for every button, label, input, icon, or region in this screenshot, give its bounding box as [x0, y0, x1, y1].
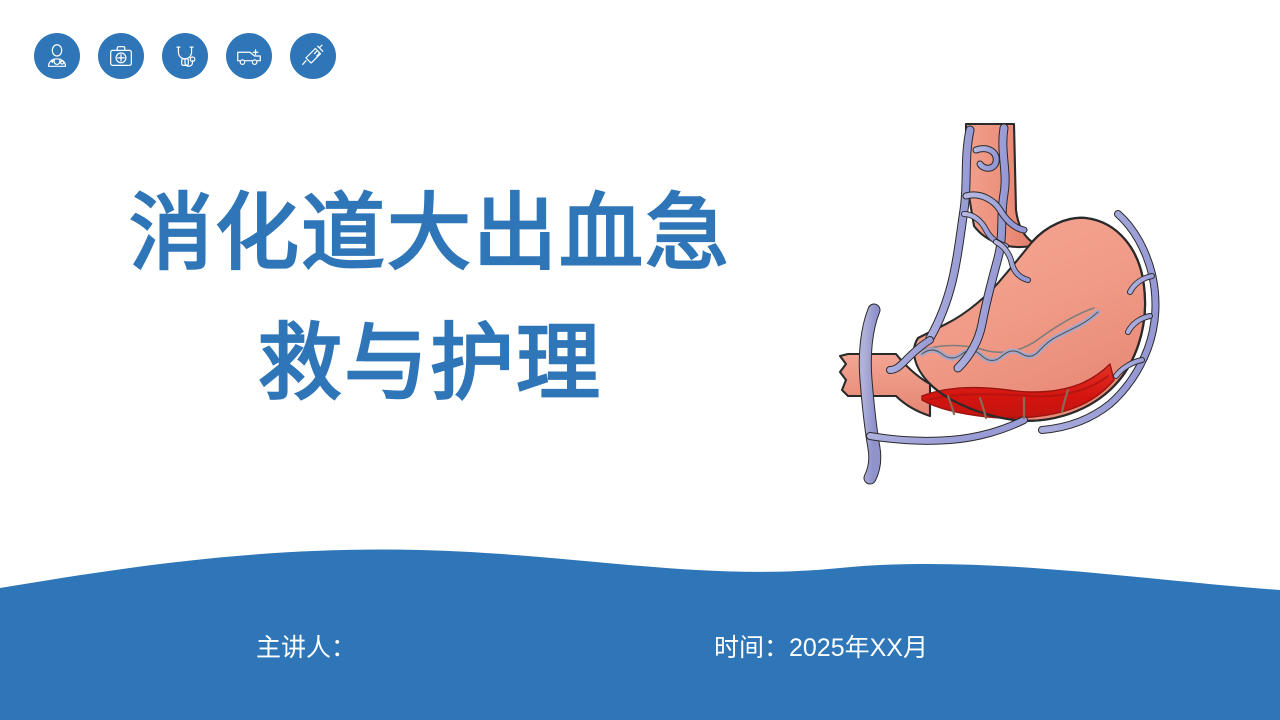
- slide-footer: 主讲人： 时间：2025年XX月: [0, 628, 1280, 668]
- medical-icon-row: [34, 33, 336, 79]
- doctor-icon: [34, 33, 80, 79]
- title-line-1: 消化道大出血急: [60, 168, 800, 298]
- date-label: 时间：2025年XX月: [714, 631, 928, 665]
- syringe-icon: [290, 33, 336, 79]
- presentation-slide: 消化道大出血急 救与护理: [0, 0, 1280, 720]
- stomach-anatomy-illustration: [818, 118, 1186, 508]
- footer-wave-band: [0, 520, 1280, 720]
- presenter-label: 主讲人：: [256, 631, 356, 665]
- title-line-2: 救与护理: [60, 298, 800, 428]
- ambulance-icon: [226, 33, 272, 79]
- page-title: 消化道大出血急 救与护理: [60, 168, 800, 428]
- stethoscope-icon: [162, 33, 208, 79]
- first-aid-kit-icon: [98, 33, 144, 79]
